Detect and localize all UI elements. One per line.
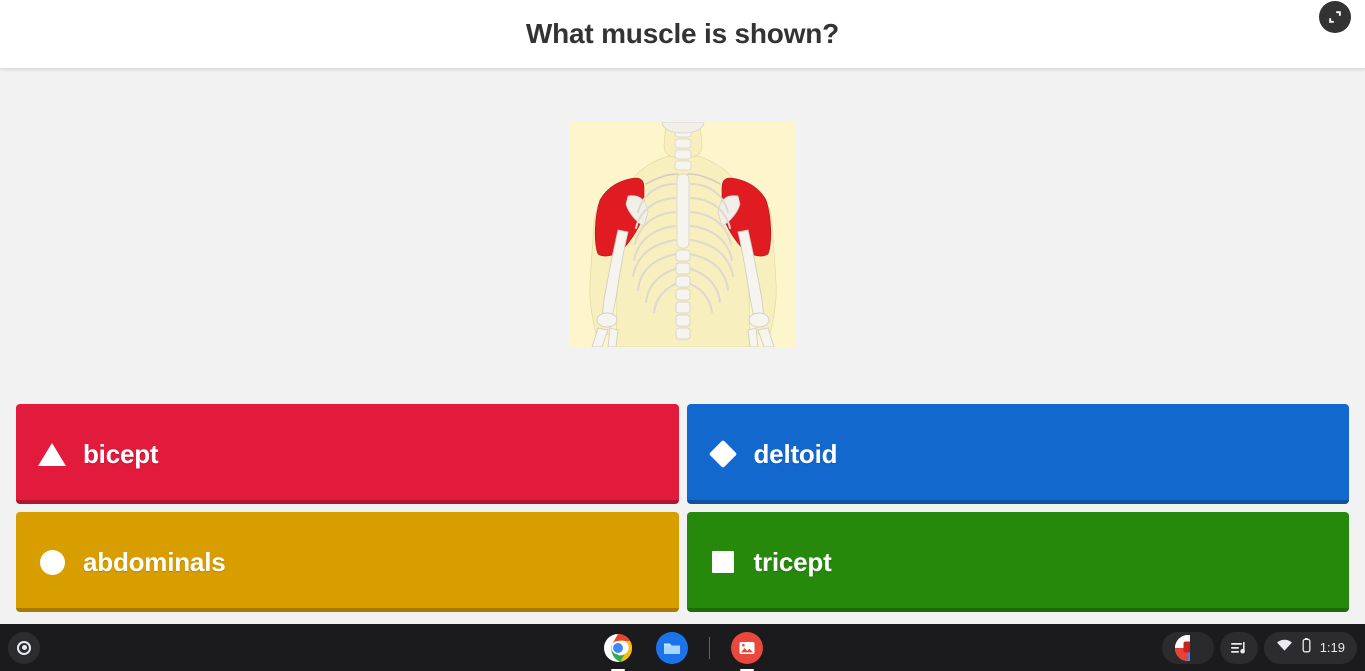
launcher-dot	[22, 645, 27, 650]
launcher-circle-icon[interactable]	[8, 632, 40, 664]
chrome-icon[interactable]	[601, 631, 635, 665]
answer-button-red[interactable]: bicept	[16, 404, 679, 504]
expand-fullscreen-icon[interactable]	[1319, 1, 1351, 33]
answer-label-red: bicept	[83, 439, 158, 470]
answer-label-blue: deltoid	[754, 439, 838, 470]
answer-label-yellow: abdominals	[83, 547, 225, 578]
wifi-icon	[1276, 637, 1293, 659]
files-icon[interactable]	[655, 631, 689, 665]
shelf-divider	[709, 637, 710, 659]
shelf-app-list	[601, 631, 764, 665]
clock-time: 1:19	[1320, 640, 1345, 655]
avatar-pill-shade	[1190, 632, 1214, 664]
battery-icon	[1301, 637, 1312, 659]
gallery-running-indicator	[740, 669, 754, 671]
media-playlist-icon[interactable]	[1220, 632, 1258, 664]
answer-label-green: tricept	[754, 547, 832, 578]
square-icon	[709, 548, 737, 576]
answer-button-green[interactable]: tricept	[687, 512, 1350, 612]
media-stage	[0, 68, 1365, 404]
system-tray: 1:19	[1162, 632, 1357, 664]
user-avatar[interactable]	[1162, 632, 1214, 664]
answer-button-blue[interactable]: deltoid	[687, 404, 1350, 504]
status-area[interactable]: 1:19	[1264, 632, 1357, 664]
chrome-running-indicator	[611, 669, 625, 671]
diamond-icon	[709, 440, 737, 468]
question-header: What muscle is shown?	[0, 0, 1365, 68]
triangle-icon	[38, 440, 66, 468]
system-shelf: 1:19	[0, 624, 1365, 671]
quiz-screen: What muscle is shown?	[0, 0, 1365, 671]
question-title: What muscle is shown?	[446, 18, 919, 50]
circle-icon	[38, 548, 66, 576]
gallery-icon[interactable]	[730, 631, 764, 665]
launcher-ring	[17, 641, 31, 655]
question-image	[570, 122, 796, 347]
answer-button-yellow[interactable]: abdominals	[16, 512, 679, 612]
answer-grid: bicept deltoid abdominals tricept	[0, 404, 1365, 624]
